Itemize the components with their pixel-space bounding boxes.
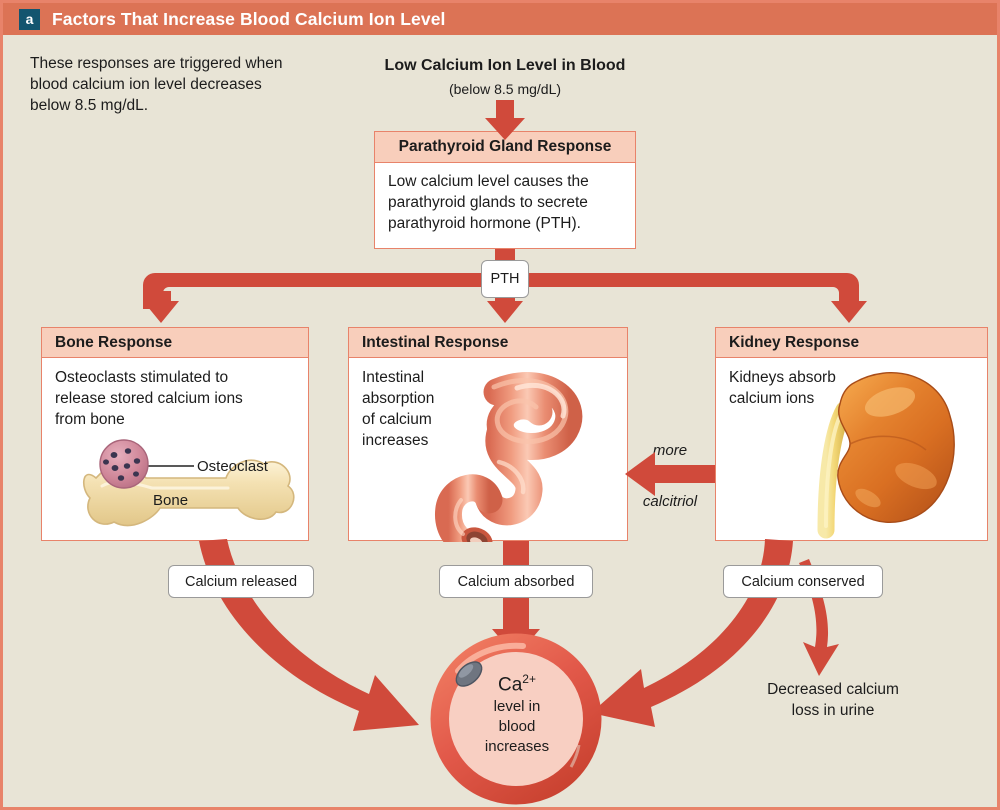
bone-response-body: Osteoclasts stimulated to release stored… [42, 358, 308, 540]
outcome-label: Calcium released [185, 574, 297, 590]
vessel-line-1: level in [446, 697, 588, 717]
kidney-illustration [716, 358, 989, 542]
parathyroid-gland-response-box: Parathyroid Gland Response Low calcium l… [374, 131, 636, 249]
vessel-ion-line: Ca2+ [446, 667, 588, 697]
calcium-absorbed-arrow [492, 541, 540, 657]
intestine-illustration [349, 358, 629, 542]
vessel-ion: Ca [498, 674, 522, 695]
pth-label: PTH [481, 260, 529, 298]
figure-header: a Factors That Increase Blood Calcium Io… [3, 3, 997, 35]
outcome-label: Calcium conserved [741, 574, 864, 590]
vessel-ion-charge: 2+ [522, 672, 536, 686]
urine-note: Decreased calcium loss in urine [743, 679, 923, 721]
figure-container: a Factors That Increase Blood Calcium Io… [0, 0, 1000, 810]
vessel-line-2: blood [446, 717, 588, 737]
page-title: Factors That Increase Blood Calcium Ion … [52, 9, 446, 30]
intestinal-response-heading: Intestinal Response [349, 328, 627, 358]
bone-response-panel: Bone Response Osteoclasts stimulated to … [41, 327, 309, 541]
vessel-text-block: Ca2+ level in blood increases [446, 667, 588, 757]
calcitriol-label: calcitriol [621, 491, 719, 512]
outcome-calcium-absorbed: Calcium absorbed [439, 565, 593, 598]
parathyroid-body: Low calcium level causes the parathyroid… [375, 163, 635, 234]
kidney-response-panel: Kidney Response Kidneys absorb calcium i… [715, 327, 988, 541]
outcome-calcium-conserved: Calcium conserved [723, 565, 883, 598]
intestinal-response-body: Intestinal absorption of calcium increas… [349, 358, 627, 540]
bone-response-heading: Bone Response [42, 328, 308, 358]
vessel-line-3: increases [446, 737, 588, 757]
kidney-response-heading: Kidney Response [716, 328, 987, 358]
calcitriol-more-label: more [628, 440, 712, 461]
intro-text: These responses are triggered when blood… [30, 53, 330, 116]
panel-letter-badge: a [19, 9, 40, 30]
kidney-response-body: Kidneys absorb calcium ions [716, 358, 987, 540]
bone-label: Bone [153, 490, 188, 511]
outcome-calcium-released: Calcium released [168, 565, 314, 598]
trigger-title: Low Calcium Ion Level in Blood [355, 55, 655, 76]
parathyroid-heading: Parathyroid Gland Response [375, 132, 635, 163]
pth-label-text: PTH [491, 271, 520, 287]
outcome-label: Calcium absorbed [458, 574, 575, 590]
trigger-subtitle: (below 8.5 mg/dL) [355, 79, 655, 100]
bone-illustration [42, 358, 310, 542]
osteoclast-label: Osteoclast [197, 456, 268, 477]
intestinal-response-panel: Intestinal Response Intestinal absorptio… [348, 327, 628, 541]
